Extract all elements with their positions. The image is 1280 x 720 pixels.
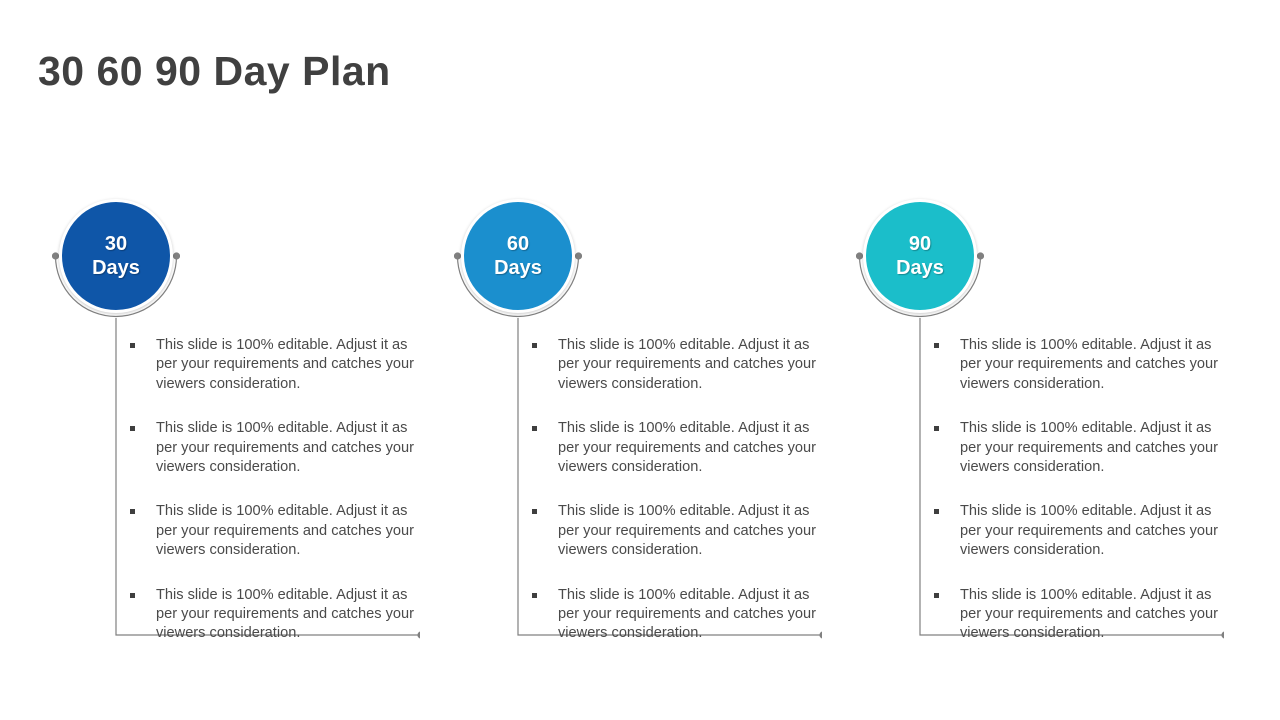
bullet-text: This slide is 100% editable. Adjust it a… xyxy=(960,420,1218,475)
badge-unit-30: Days xyxy=(92,256,140,280)
bullet-square-icon xyxy=(532,509,537,514)
badge-circle-90[interactable]: 90 Days xyxy=(863,199,977,313)
bullet-text: This slide is 100% editable. Adjust it a… xyxy=(558,420,816,475)
bullet-square-icon xyxy=(934,343,939,348)
badge-circle-30[interactable]: 30 Days xyxy=(59,199,173,313)
bullet-text: This slide is 100% editable. Adjust it a… xyxy=(960,587,1218,642)
bullet-square-icon xyxy=(934,593,939,598)
list-item: This slide is 100% editable. Adjust it a… xyxy=(932,502,1228,560)
bullet-list-30: This slide is 100% editable. Adjust it a… xyxy=(128,336,424,644)
bullet-text: This slide is 100% editable. Adjust it a… xyxy=(156,587,414,642)
badge-60[interactable]: 60 Days xyxy=(454,192,582,320)
badge-circle-60[interactable]: 60 Days xyxy=(461,199,575,313)
bullet-square-icon xyxy=(532,343,537,348)
bullet-text: This slide is 100% editable. Adjust it a… xyxy=(558,503,816,558)
badge-number-90: 90 xyxy=(909,232,931,256)
list-item: This slide is 100% editable. Adjust it a… xyxy=(932,419,1228,477)
bullet-square-icon xyxy=(130,593,135,598)
bullet-text: This slide is 100% editable. Adjust it a… xyxy=(156,420,414,475)
list-item: This slide is 100% editable. Adjust it a… xyxy=(530,336,826,394)
bullet-text: This slide is 100% editable. Adjust it a… xyxy=(558,337,816,392)
list-item: This slide is 100% editable. Adjust it a… xyxy=(932,586,1228,644)
bullet-text: This slide is 100% editable. Adjust it a… xyxy=(156,337,414,392)
bullet-list-90: This slide is 100% editable. Adjust it a… xyxy=(932,336,1228,644)
bullet-square-icon xyxy=(532,426,537,431)
badge-number-60: 60 xyxy=(507,232,529,256)
bullet-list-60: This slide is 100% editable. Adjust it a… xyxy=(530,336,826,644)
list-item: This slide is 100% editable. Adjust it a… xyxy=(932,336,1228,394)
slide-canvas: 30 60 90 Day Plan 30 Days This slide is … xyxy=(0,0,1280,720)
bullet-square-icon xyxy=(130,343,135,348)
badge-unit-60: Days xyxy=(494,256,542,280)
bullet-text: This slide is 100% editable. Adjust it a… xyxy=(156,503,414,558)
badge-unit-90: Days xyxy=(896,256,944,280)
bullet-square-icon xyxy=(934,426,939,431)
bullet-square-icon xyxy=(130,509,135,514)
plan-column-60: 60 Days This slide is 100% editable. Adj… xyxy=(402,0,822,720)
plan-column-30: 30 Days This slide is 100% editable. Adj… xyxy=(0,0,420,720)
badge-90[interactable]: 90 Days xyxy=(856,192,984,320)
bullet-text: This slide is 100% editable. Adjust it a… xyxy=(960,337,1218,392)
list-item: This slide is 100% editable. Adjust it a… xyxy=(128,336,424,394)
badge-30[interactable]: 30 Days xyxy=(52,192,180,320)
list-item: This slide is 100% editable. Adjust it a… xyxy=(128,586,424,644)
badge-number-30: 30 xyxy=(105,232,127,256)
list-item: This slide is 100% editable. Adjust it a… xyxy=(530,502,826,560)
list-item: This slide is 100% editable. Adjust it a… xyxy=(530,586,826,644)
plan-column-90: 90 Days This slide is 100% editable. Adj… xyxy=(804,0,1224,720)
bullet-square-icon xyxy=(130,426,135,431)
list-item: This slide is 100% editable. Adjust it a… xyxy=(530,419,826,477)
list-item: This slide is 100% editable. Adjust it a… xyxy=(128,502,424,560)
list-item: This slide is 100% editable. Adjust it a… xyxy=(128,419,424,477)
bullet-square-icon xyxy=(532,593,537,598)
bullet-square-icon xyxy=(934,509,939,514)
bullet-text: This slide is 100% editable. Adjust it a… xyxy=(960,503,1218,558)
bullet-text: This slide is 100% editable. Adjust it a… xyxy=(558,587,816,642)
